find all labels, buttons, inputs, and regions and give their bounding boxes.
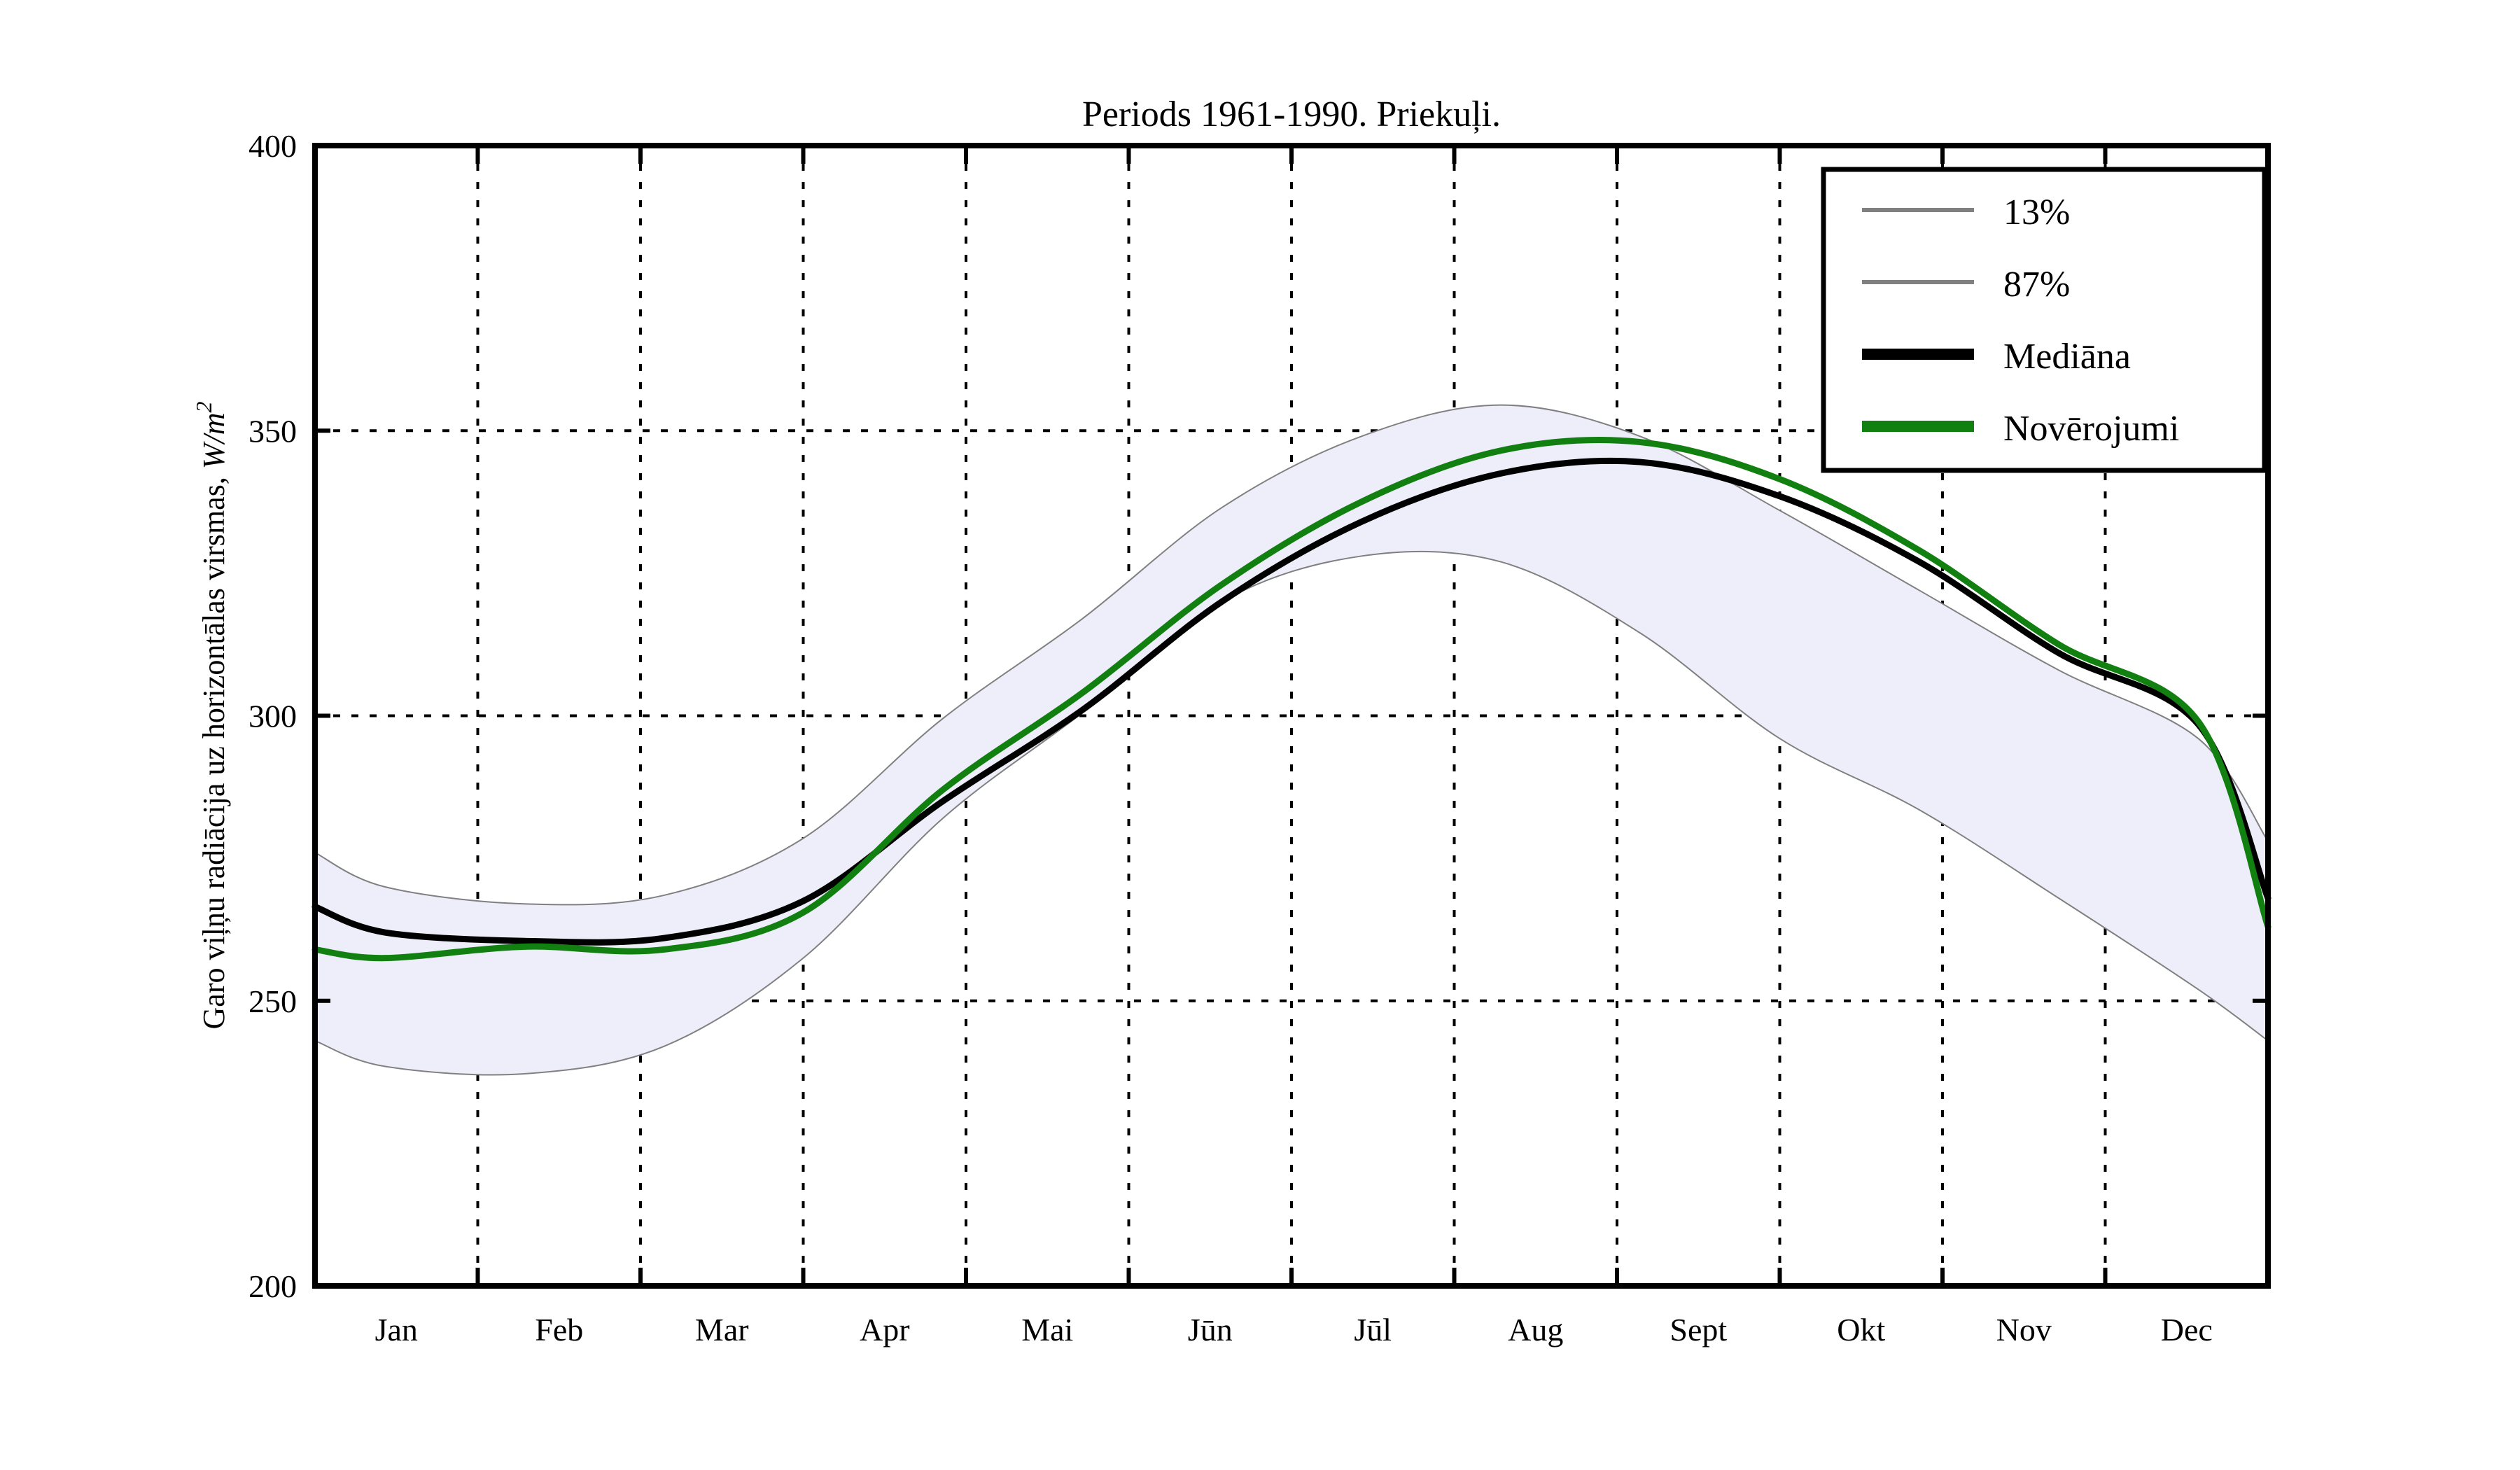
chart-svg: 200250300350400 JanFebMarAprMaiJūnJūlAug… <box>0 0 2520 1470</box>
x-tick-label: Okt <box>1837 1312 1885 1347</box>
x-tick-label: Mar <box>695 1312 749 1347</box>
y-tick-label: 200 <box>248 1268 297 1304</box>
x-tick-label: Apr <box>860 1312 910 1347</box>
x-tick-label: Sept <box>1669 1312 1727 1347</box>
y-tick-label: 250 <box>248 983 297 1019</box>
chart-title: Periods 1961-1990. Priekuļi. <box>1082 94 1501 134</box>
y-tick-label: 400 <box>248 128 297 164</box>
y-axis-title-group: Garo viļņu radiācija uz horizontālas vir… <box>191 402 231 1030</box>
y-tick-label: 350 <box>248 413 297 449</box>
x-tick-label: Feb <box>535 1312 583 1347</box>
legend-label: Novērojumi <box>2003 409 2179 449</box>
legend[interactable]: 13%87%MediānaNovērojumi <box>1823 169 2264 470</box>
legend-label: 87% <box>2003 265 2070 304</box>
x-tick-label: Jūn <box>1188 1312 1233 1347</box>
x-tick-label: Mai <box>1021 1312 1073 1347</box>
y-axis-title: Garo viļņu radiācija uz horizontālas vir… <box>191 402 231 1030</box>
x-tick-label: Nov <box>1996 1312 2052 1347</box>
x-axis-tick-labels: JanFebMarAprMaiJūnJūlAugSeptOktNovDec <box>375 1312 2213 1347</box>
legend-label: 13% <box>2003 192 2070 232</box>
x-tick-label: Aug <box>1508 1312 1563 1347</box>
figure-canvas: 200250300350400 JanFebMarAprMaiJūnJūlAug… <box>0 0 2520 1470</box>
y-tick-label: 300 <box>248 699 297 734</box>
x-tick-label: Jan <box>375 1312 418 1347</box>
legend-label: Mediāna <box>2003 337 2131 377</box>
x-tick-label: Jūl <box>1354 1312 1392 1347</box>
x-tick-label: Dec <box>2161 1312 2213 1347</box>
y-axis-tick-labels: 200250300350400 <box>248 128 297 1304</box>
